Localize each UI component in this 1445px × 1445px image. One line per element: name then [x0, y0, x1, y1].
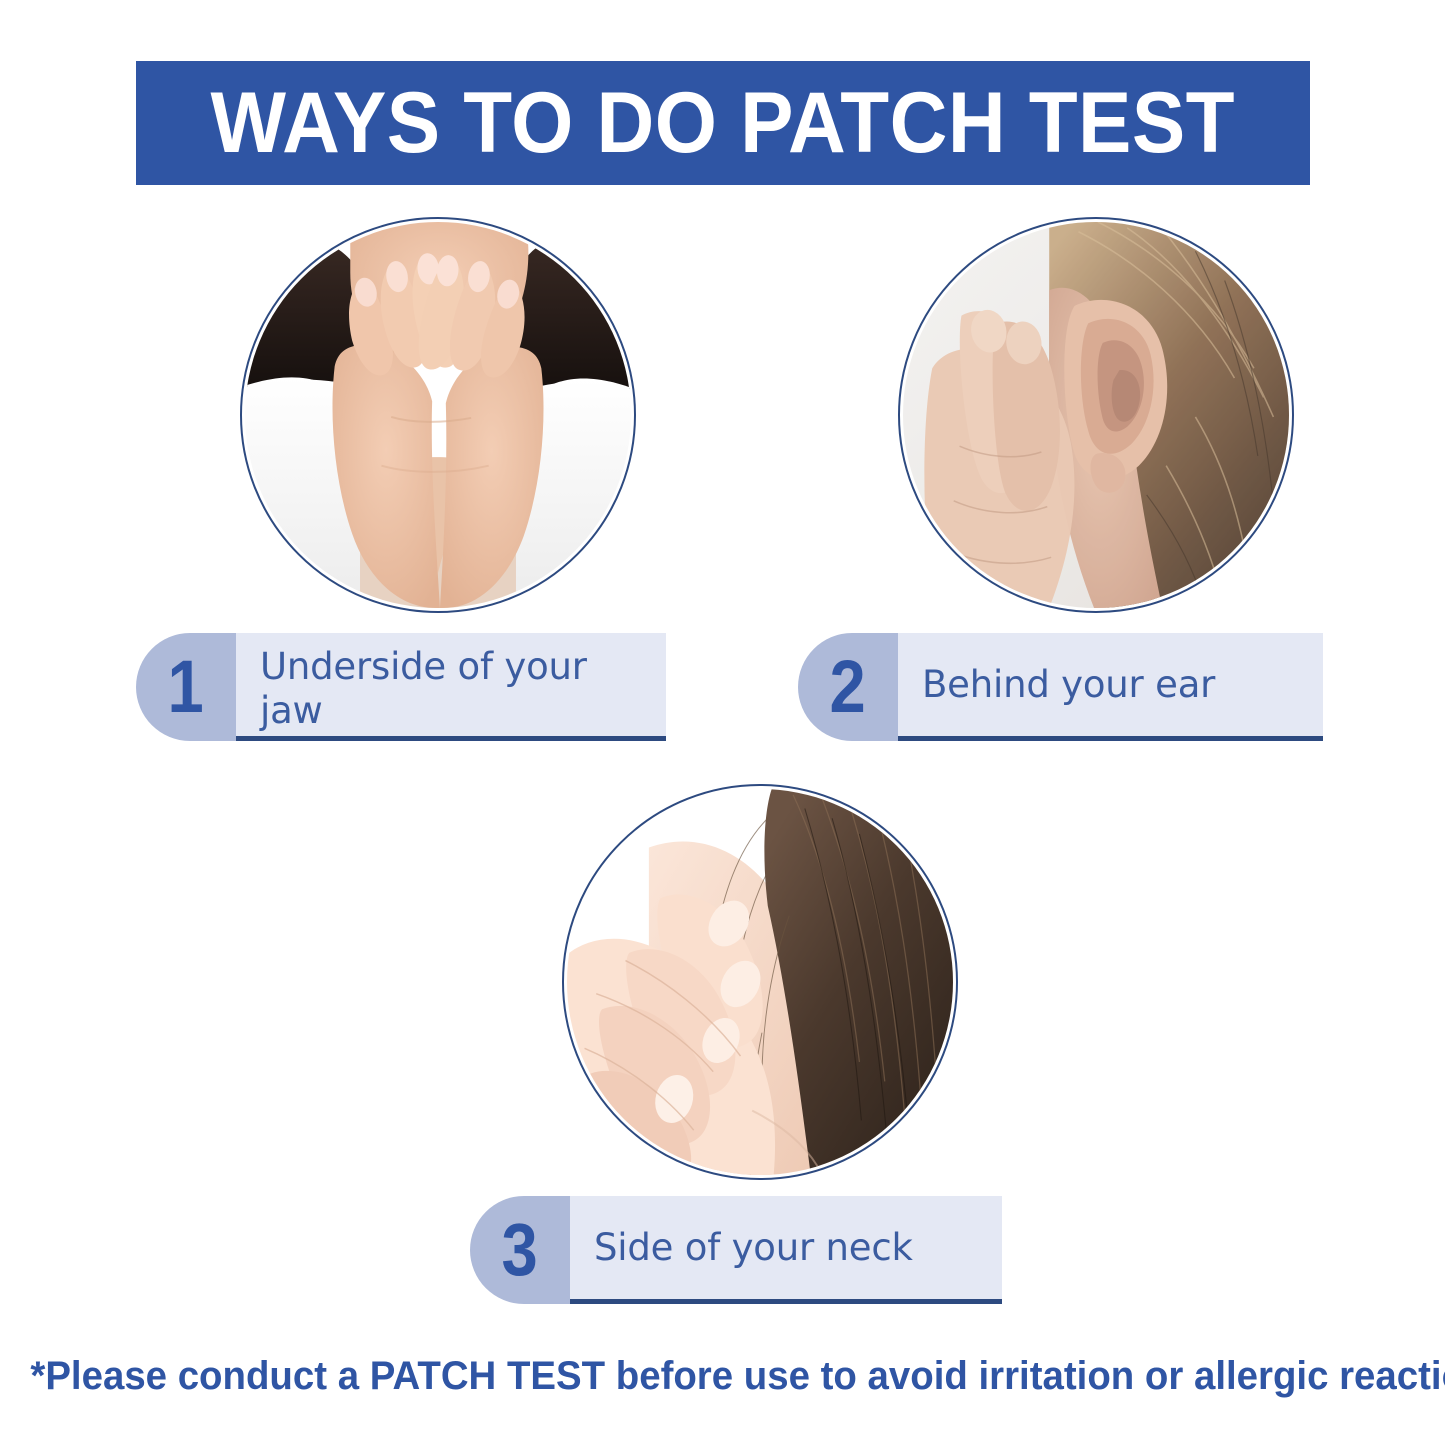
step-caption-2: 2 Behind your ear: [798, 633, 1323, 741]
step-photo-3-image: [567, 789, 953, 1175]
step-label-panel-3: Side of your neck: [570, 1196, 1002, 1304]
patch-test-disclaimer-text: *Please conduct a PATCH TEST before use …: [30, 1352, 1445, 1400]
step-label-1: Underside of your jaw: [260, 645, 652, 732]
header-banner: WAYS TO DO PATCH TEST: [136, 61, 1310, 185]
step-photo-3: [562, 784, 958, 1180]
step-label-panel-1: Underside of your jaw: [236, 633, 666, 741]
step-caption-1: 1 Underside of your jaw: [136, 633, 666, 741]
step-number-2: 2: [830, 650, 866, 724]
step-label-panel-2: Behind your ear: [898, 633, 1323, 741]
step-number-badge-2: 2: [798, 633, 898, 741]
step-label-2: Behind your ear: [922, 663, 1215, 707]
step-photo-1: [240, 217, 636, 613]
step-photo-2: [898, 217, 1294, 613]
step-photo-1-image: [245, 222, 631, 608]
step-number-3: 3: [502, 1213, 538, 1287]
step-number-badge-1: 1: [136, 633, 236, 741]
patch-test-disclaimer: *Please conduct a PATCH TEST before use …: [0, 1352, 1445, 1400]
infographic-page: { "header": { "title": "WAYS TO DO PATCH…: [0, 0, 1445, 1445]
step-photo-2-image: [903, 222, 1289, 608]
ear-photo-illustration: [903, 222, 1289, 608]
step-label-3: Side of your neck: [594, 1226, 913, 1270]
step-caption-3: 3 Side of your neck: [470, 1196, 1002, 1304]
page-title: WAYS TO DO PATCH TEST: [211, 80, 1235, 166]
neck-photo-illustration: [567, 789, 953, 1175]
step-number-badge-3: 3: [470, 1196, 570, 1304]
jaw-photo-illustration: [245, 222, 631, 608]
step-number-1: 1: [168, 650, 204, 724]
